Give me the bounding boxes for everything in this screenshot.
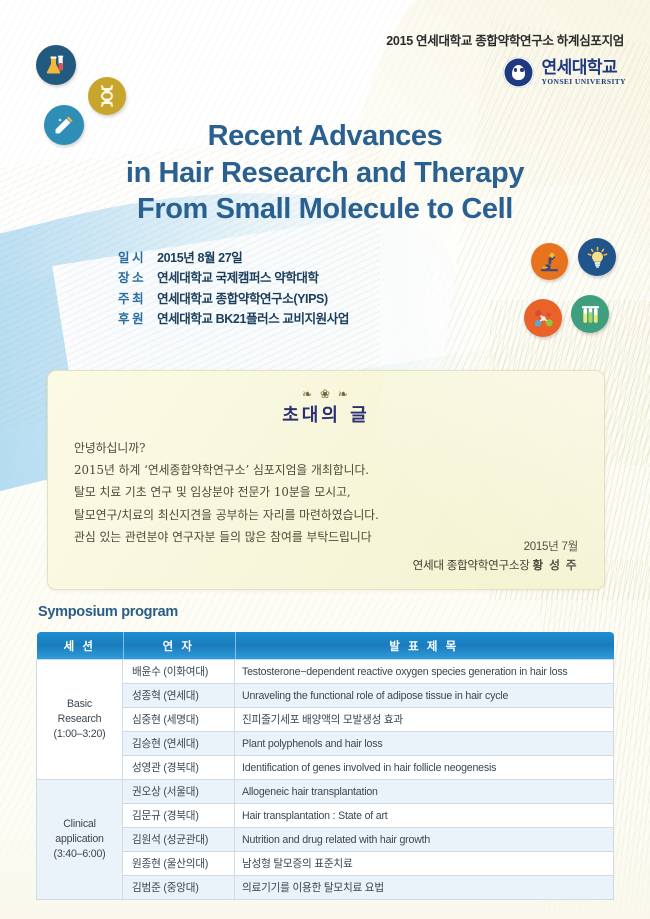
test-tubes-icon (571, 295, 609, 333)
session-name-line-2: application (39, 832, 120, 847)
topic-cell: Plant polyphenols and hair loss (235, 732, 614, 756)
invitation-signature: 2015년 7월 연세대 종합약학연구소장 황 성 주 (413, 538, 578, 576)
speaker-cell: 원종현 (울산의대) (123, 852, 235, 876)
speaker-cell: 김원석 (성균관대) (123, 828, 235, 852)
topic-cell: 남성형 탈모증의 표준치료 (235, 852, 614, 876)
column-header-session: 세 션 (37, 632, 123, 660)
topic-cell: 진피줄기세포 배양액의 모발생성 효과 (235, 708, 614, 732)
signature-name: 황 성 주 (533, 559, 578, 572)
table-row: 김범준 (중앙대) 의료기기를 이용한 탈모치료 요법 (37, 876, 614, 900)
table-row: 성종혁 (연세대) Unraveling the functional role… (37, 684, 614, 708)
topic-cell: Unraveling the functional role of adipos… (235, 684, 614, 708)
molecule-icon (524, 299, 562, 337)
yonsei-name-korean: 연세대학교 (541, 59, 626, 76)
speaker-cell: 김문규 (경북대) (123, 804, 235, 828)
table-row: 심중현 (세명대) 진피줄기세포 배양액의 모발생성 효과 (37, 708, 614, 732)
yonsei-logo: 연세대학교 YONSEI UNIVERSITY (503, 57, 626, 88)
invitation-line-3: 탈모 치료 기초 연구 및 임상분야 전문가 10분을 모시고, (74, 481, 379, 503)
table-row: 김승현 (연세대) Plant polyphenols and hair los… (37, 732, 614, 756)
session-time: (1:00–3:20) (39, 727, 120, 742)
poster-root: 2015 연세대학교 종합약학연구소 하계심포지엄 연세대학교 YONSEI U… (0, 0, 650, 919)
event-kicker: 2015 연세대학교 종합약학연구소 하계심포지엄 (386, 30, 624, 49)
topic-cell: Nutrition and drug related with hair gro… (235, 828, 614, 852)
invitation-line-4: 탈모연구/치료의 최신지견을 공부하는 자리를 마련하였습니다. (74, 504, 379, 526)
detail-row-date: 일 시 2015년 8월 27일 (118, 248, 349, 268)
speaker-cell: 성종혁 (연세대) (123, 684, 235, 708)
speaker-cell: 배윤수 (이화여대) (123, 660, 235, 684)
speaker-cell: 권오상 (서울대) (123, 780, 235, 804)
detail-value-venue: 연세대학교 국제캠퍼스 약학대학 (157, 271, 319, 285)
speaker-cell: 김범준 (중앙대) (123, 876, 235, 900)
seal-shield-shape (512, 65, 525, 80)
table-row: 김문규 (경북대) Hair transplantation : State o… (37, 804, 614, 828)
detail-value-date: 2015년 8월 27일 (157, 251, 242, 265)
signature-date: 2015년 7월 (413, 538, 578, 557)
topic-cell: Testosterone−dependent reactive oxygen s… (235, 660, 614, 684)
invitation-line-5: 관심 있는 관련분야 연구자분 들의 많은 참여를 부탁드립니다 (74, 526, 379, 548)
topic-cell: Identification of genes involved in hair… (235, 756, 614, 780)
invitation-heading: 초대의 글 (48, 401, 604, 427)
table-row: Clinical application (3:40–6:00) 권오상 (서울… (37, 780, 614, 804)
column-header-speaker: 연 자 (123, 632, 235, 660)
detail-label-host: 주 최 (118, 289, 154, 309)
topic-cell: Allogeneic hair transplantation (235, 780, 614, 804)
detail-label-date: 일 시 (118, 248, 154, 268)
topic-cell: 의료기기를 이용한 탈모치료 요법 (235, 876, 614, 900)
session-name-line-2: Research (39, 712, 120, 727)
yonsei-seal-icon (503, 57, 534, 88)
signature-org: 연세대 종합약학연구소장 (413, 559, 530, 572)
detail-label-venue: 장 소 (118, 268, 154, 288)
table-row: 성영관 (경북대) Identification of genes involv… (37, 756, 614, 780)
session-cell-clinical-application: Clinical application (3:40–6:00) (37, 780, 123, 900)
invitation-body: 안녕하십니까? 2015년 하계 ‘연세종합약학연구소’ 심포지엄을 개최합니다… (74, 437, 379, 548)
invitation-card: ❧ ❀ ❧ 초대의 글 안녕하십니까? 2015년 하계 ‘연세종합약학연구소’… (47, 370, 605, 590)
program-section-title: Symposium program (38, 604, 178, 620)
signature-org-line: 연세대 종합약학연구소장 황 성 주 (413, 557, 578, 576)
detail-value-sponsor: 연세대학교 BK21플러스 교비지원사업 (157, 312, 349, 326)
title-line-2: in Hair Research and Therapy (0, 155, 650, 192)
speaker-cell: 성영관 (경북대) (123, 756, 235, 780)
detail-row-sponsor: 후 원 연세대학교 BK21플러스 교비지원사업 (118, 309, 349, 329)
session-cell-basic-research: Basic Research (1:00–3:20) (37, 660, 123, 780)
poster-title: Recent Advances in Hair Research and The… (0, 118, 650, 228)
title-line-3: From Small Molecule to Cell (0, 191, 650, 228)
invitation-line-2: 2015년 하계 ‘연세종합약학연구소’ 심포지엄을 개최합니다. (74, 459, 379, 481)
column-header-topic: 발 표 제 목 (235, 632, 614, 660)
dna-icon (88, 77, 126, 115)
session-name-line-1: Clinical (39, 817, 120, 832)
yonsei-name-english: YONSEI UNIVERSITY (541, 78, 626, 86)
session-time: (3:40–6:00) (39, 847, 120, 862)
speaker-cell: 심중현 (세명대) (123, 708, 235, 732)
program-table: 세 션 연 자 발 표 제 목 Basic Research (1:00–3:2… (36, 632, 614, 900)
title-line-1: Recent Advances (0, 118, 650, 155)
flourish-ornament-icon: ❧ ❀ ❧ (48, 387, 604, 401)
session-name-line-1: Basic (39, 697, 120, 712)
detail-row-venue: 장 소 연세대학교 국제캠퍼스 약학대학 (118, 268, 349, 288)
table-row: Basic Research (1:00–3:20) 배윤수 (이화여대) Te… (37, 660, 614, 684)
microscope-icon (531, 243, 568, 280)
event-details: 일 시 2015년 8월 27일 장 소 연세대학교 국제캠퍼스 약학대학 주 … (118, 248, 349, 329)
topic-cell: Hair transplantation : State of art (235, 804, 614, 828)
detail-value-host: 연세대학교 종합약학연구소(YIPS) (157, 292, 328, 306)
invitation-line-1: 안녕하십니까? (74, 437, 379, 459)
table-row: 김원석 (성균관대) Nutrition and drug related wi… (37, 828, 614, 852)
speaker-cell: 김승현 (연세대) (123, 732, 235, 756)
yonsei-wordmark: 연세대학교 YONSEI UNIVERSITY (541, 59, 626, 86)
detail-label-sponsor: 후 원 (118, 309, 154, 329)
flask-icon (36, 45, 76, 85)
table-header-row: 세 션 연 자 발 표 제 목 (37, 632, 614, 660)
table-row: 원종현 (울산의대) 남성형 탈모증의 표준치료 (37, 852, 614, 876)
detail-row-host: 주 최 연세대학교 종합약학연구소(YIPS) (118, 289, 349, 309)
lightbulb-icon (578, 238, 616, 276)
